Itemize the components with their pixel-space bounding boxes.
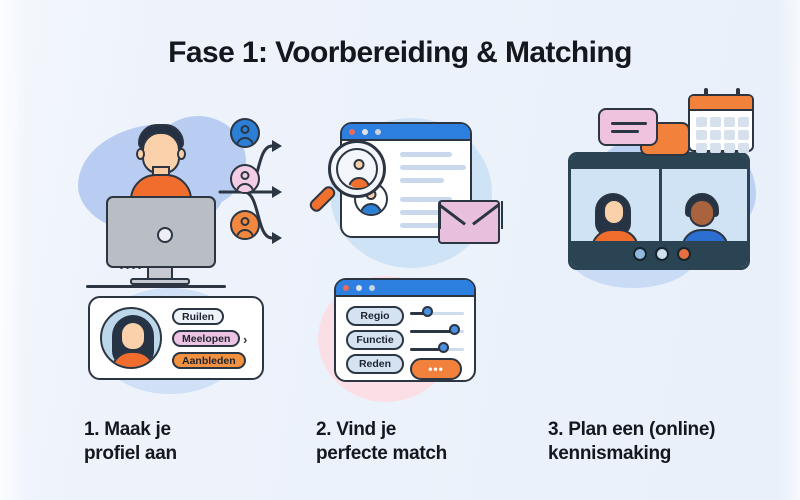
person-ear-left — [136, 148, 145, 160]
avatar-orange — [230, 210, 260, 240]
window-dot-close[interactable] — [343, 285, 349, 291]
slider-functie[interactable] — [410, 330, 464, 333]
chat-bubble-pink — [598, 108, 658, 146]
slider-regio[interactable] — [410, 312, 464, 315]
call-control-2[interactable] — [655, 247, 669, 261]
page-title: Fase 1: Voorbereiding & Matching — [0, 36, 800, 70]
filter-titlebar — [336, 280, 474, 297]
window-dot-minimize[interactable] — [362, 129, 368, 135]
avatar-pink — [230, 164, 260, 194]
content-line — [400, 178, 444, 183]
window-dot-maximize[interactable] — [375, 129, 381, 135]
video-call-divider — [659, 169, 662, 241]
browser-titlebar — [342, 124, 470, 141]
calendar-grid — [696, 117, 749, 153]
video-call-frame — [568, 152, 750, 270]
left-edge-gradient — [0, 0, 26, 500]
envelope-icon — [438, 200, 500, 244]
monitor-indicator-dots — [120, 256, 150, 259]
video-call-topbar — [571, 155, 747, 169]
calendar-icon — [688, 94, 754, 152]
step-2-caption: 2. Vind je perfecte match — [316, 418, 516, 467]
filter-apply-button[interactable]: ••• — [410, 358, 462, 380]
filter-button-functie[interactable]: Functie — [346, 330, 404, 350]
illustration-person-at-computer — [78, 118, 294, 278]
step-1-caption: 1. Maak je profiel aan — [84, 418, 284, 467]
step-3-caption: 3. Plan een (online) kennismaking — [548, 418, 778, 467]
content-line — [400, 165, 466, 170]
profile-avatar-face — [122, 323, 144, 349]
window-dot-minimize[interactable] — [356, 285, 362, 291]
slider-reden[interactable] — [410, 348, 464, 351]
infographic-canvas: Fase 1: Voorbereiding & Matching — [0, 0, 800, 500]
participant-1-face — [603, 199, 625, 225]
window-dot-maximize[interactable] — [369, 285, 375, 291]
content-line — [400, 223, 440, 228]
window-dot-close[interactable] — [349, 129, 355, 135]
content-line — [400, 152, 452, 157]
filter-button-regio[interactable]: Regio — [346, 306, 404, 326]
right-edge-gradient — [778, 0, 800, 500]
filter-button-reden[interactable]: Reden — [346, 354, 404, 374]
call-control-1[interactable] — [633, 247, 647, 261]
monitor-screen — [106, 196, 216, 268]
avatar-blue — [230, 118, 260, 148]
chevron-right-icon[interactable]: › — [243, 332, 247, 347]
illustration-video-call — [568, 152, 750, 270]
illustration-browser-search — [340, 122, 472, 238]
profile-card[interactable]: Ruilen Meelopen Aanbleden › — [88, 296, 264, 380]
profile-avatar — [100, 307, 162, 369]
tag-ruilen[interactable]: Ruilen — [172, 308, 224, 325]
calendar-header — [690, 96, 752, 111]
call-control-3[interactable] — [677, 247, 691, 261]
filter-window[interactable]: Regio Functie Reden ••• — [334, 278, 476, 382]
tag-aanbleden[interactable]: Aanbleden — [172, 352, 246, 369]
participant-2-face — [689, 199, 715, 227]
result-avatar-orange — [342, 154, 376, 188]
search-icon — [328, 140, 386, 198]
desk-line — [86, 285, 226, 288]
monitor-stand — [147, 266, 173, 280]
tag-meelopen[interactable]: Meelopen — [172, 330, 240, 347]
person-ear-right — [177, 148, 186, 160]
